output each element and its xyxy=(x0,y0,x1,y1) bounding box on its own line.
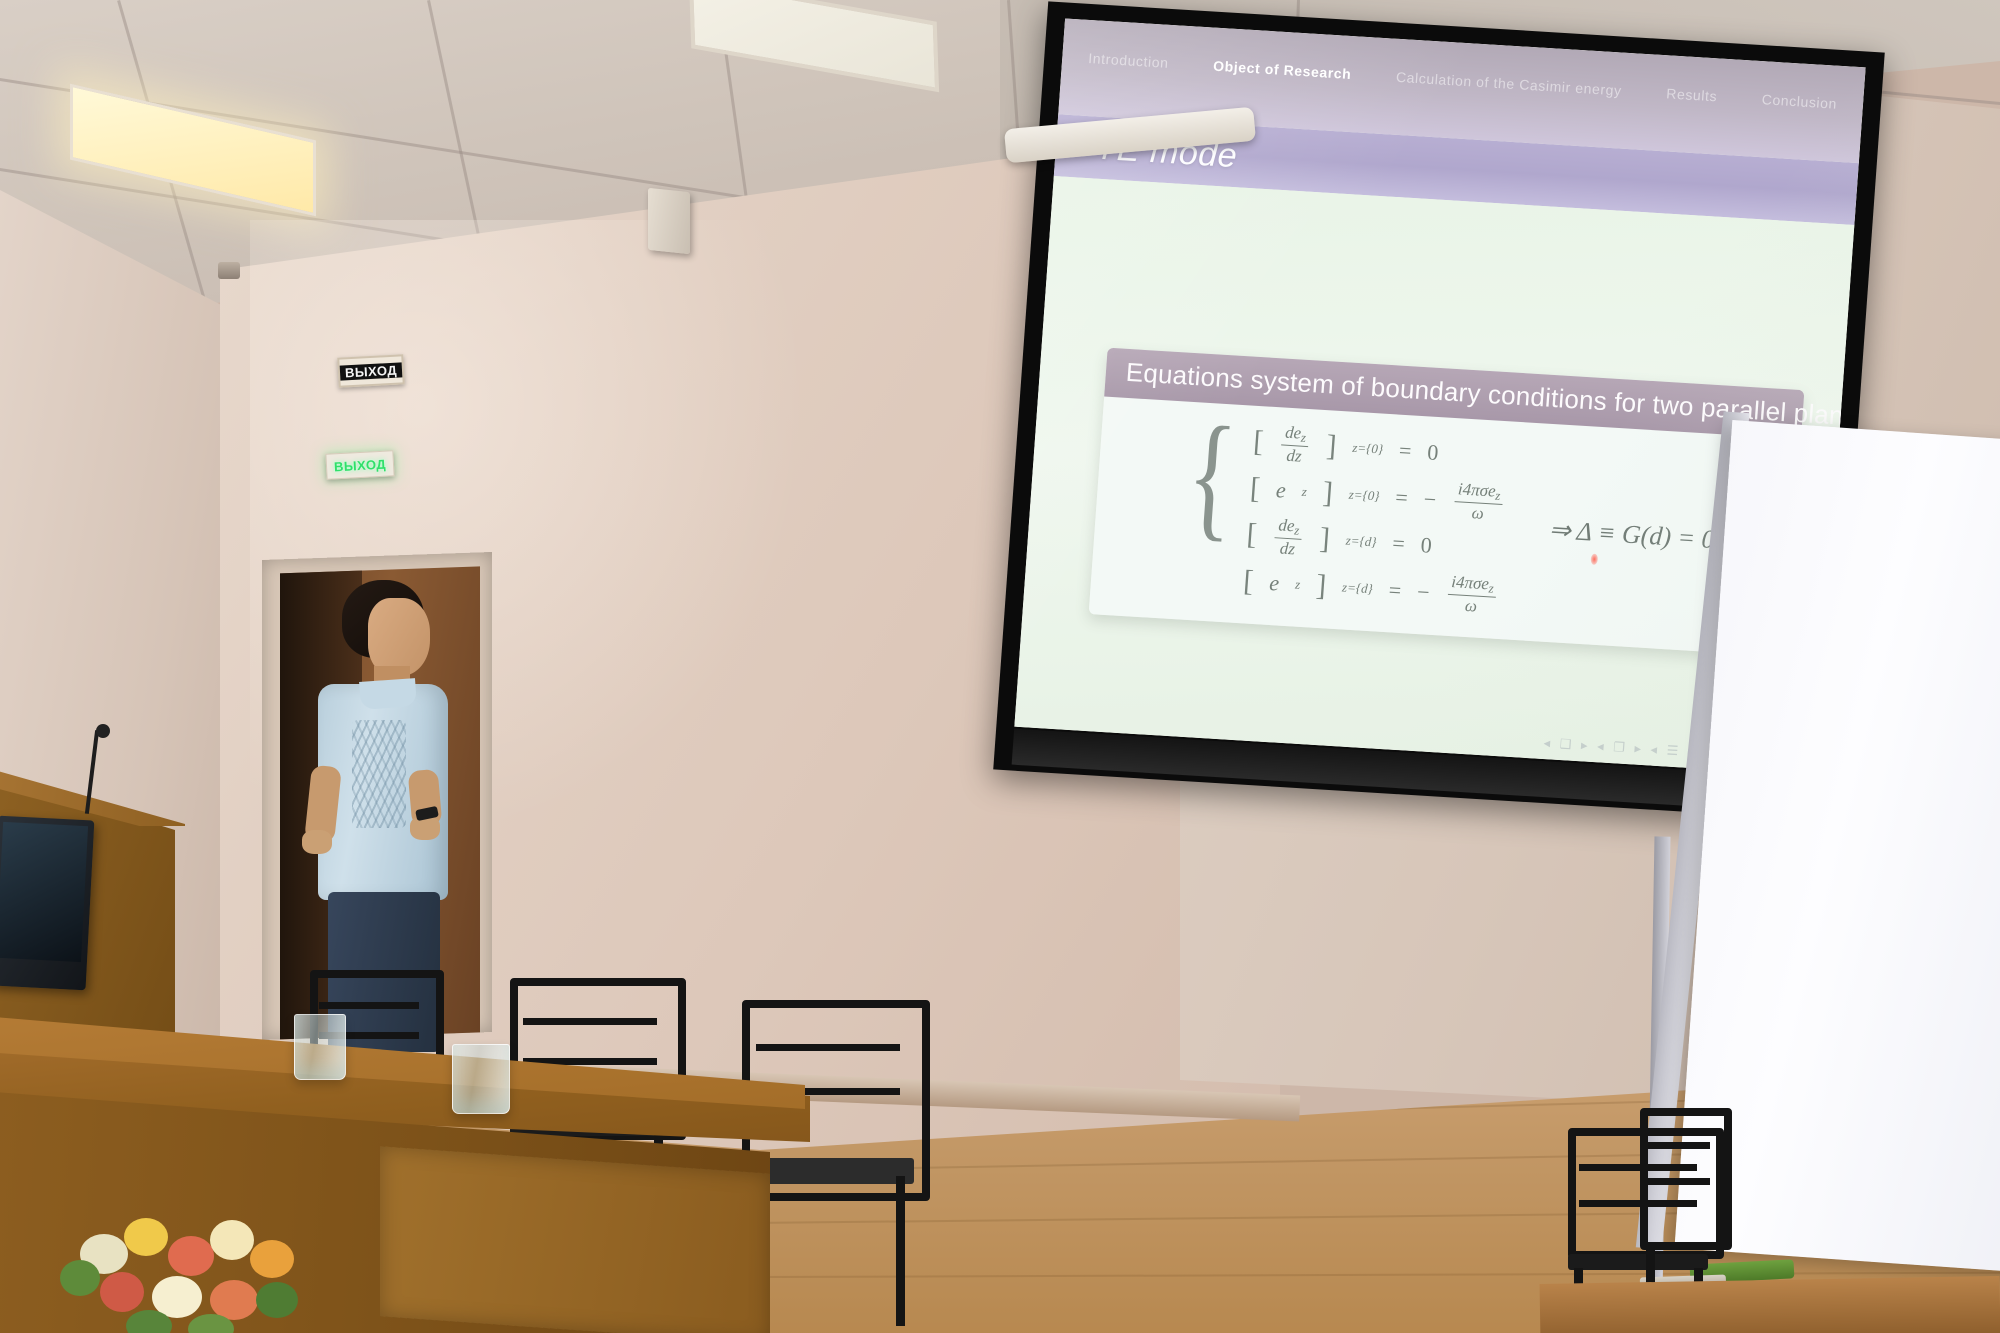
presenter-collar xyxy=(359,678,417,710)
water-glass[interactable] xyxy=(294,1014,346,1080)
water-glass[interactable] xyxy=(452,1044,510,1114)
presenter-hand-right xyxy=(410,816,440,840)
flower-bouquet xyxy=(60,1210,360,1333)
derivative-fraction: dez dz xyxy=(1280,423,1310,465)
bracket-open-icon: [ xyxy=(1249,471,1261,506)
eq2-relation: = xyxy=(1394,484,1408,511)
presenter-shirt-embroidery xyxy=(352,720,406,828)
bracket-close-icon: ] xyxy=(1322,476,1334,511)
bracket-close-icon: ] xyxy=(1315,569,1327,604)
slide-nav-conclusion[interactable]: Conclusion xyxy=(1761,91,1837,112)
bracket-open-icon: [ xyxy=(1242,564,1254,599)
eq4-relation: = xyxy=(1388,577,1402,604)
conference-table-panel xyxy=(380,1146,770,1333)
slide-nav-object-of-research[interactable]: Object of Research xyxy=(1213,58,1352,82)
eq1-rhs: 0 xyxy=(1426,440,1439,467)
eq3-numerator: de xyxy=(1278,515,1295,535)
eq1-denominator: dz xyxy=(1283,445,1305,465)
monitor-screen xyxy=(0,822,88,962)
eq4-sign: − xyxy=(1416,579,1430,606)
equation-system: { [ dez dz ] xyxy=(1169,417,1510,617)
motion-sensor-icon xyxy=(218,262,240,279)
chair-slat xyxy=(1646,1178,1710,1185)
side-table xyxy=(1540,1276,2000,1333)
equation-row: [ dez dz ] z={0} = 0 xyxy=(1252,422,1510,478)
exit-sign-primary: ВЫХОД xyxy=(337,354,404,387)
bracket-open-icon: [ xyxy=(1246,518,1258,553)
eq1-eval-at: z={0} xyxy=(1352,440,1384,458)
eq4-fraction: i4πσez ω xyxy=(1446,573,1498,616)
eq4-eval-at: z={d} xyxy=(1342,579,1374,597)
eq4-rhs-den: ω xyxy=(1461,596,1480,616)
bracket-open-icon: [ xyxy=(1252,425,1264,460)
conference-room-photo: ВЫХОД ВЫХОД Introduction Object of Res xyxy=(0,0,2000,1333)
presenter-face xyxy=(368,598,430,676)
system-brace-icon: { xyxy=(1179,418,1239,600)
eq2-sign: − xyxy=(1423,486,1437,513)
slide-nav-results[interactable]: Results xyxy=(1666,85,1718,104)
eq2-rhs-num-sub: z xyxy=(1495,488,1501,503)
bracket-close-icon: ] xyxy=(1319,522,1331,557)
eq3-denominator: dz xyxy=(1276,538,1298,558)
bracket-close-icon: ] xyxy=(1325,429,1337,464)
equation-row: [ ez ] z={d} = − i4πσez ω xyxy=(1242,561,1500,617)
eq2-field: e xyxy=(1275,477,1287,504)
chair-slat xyxy=(1646,1142,1710,1149)
exit-sign-secondary-label: ВЫХОД xyxy=(334,457,387,473)
eq2-field-sub: z xyxy=(1301,484,1307,500)
presenter-hand-left xyxy=(302,830,332,854)
computer-monitor[interactable] xyxy=(0,816,94,991)
equation-lines: [ dez dz ] z={0} = 0 xyxy=(1242,422,1510,617)
chair-slat xyxy=(756,1044,900,1051)
exit-sign-secondary: ВЫХОД xyxy=(325,450,394,480)
eq2-eval-at: z={0} xyxy=(1348,486,1380,504)
eq2-fraction: i4πσez ω xyxy=(1453,481,1505,524)
eq1-relation: = xyxy=(1398,438,1412,465)
eq1-numerator: de xyxy=(1285,423,1302,443)
equation-row: [ dez dz ] z={d} = 0 xyxy=(1245,515,1503,571)
eq4-field: e xyxy=(1268,570,1280,597)
eq2-rhs-num: i4πσe xyxy=(1457,480,1496,501)
chair-slat xyxy=(523,1018,657,1025)
eq3-num-sub: z xyxy=(1294,522,1300,537)
wall-speaker-icon xyxy=(648,188,690,254)
eq3-rhs: 0 xyxy=(1420,532,1433,559)
microphone-head-icon xyxy=(96,724,110,738)
eq4-rhs-num: i4πσe xyxy=(1451,573,1490,594)
exit-sign-primary-label: ВЫХОД xyxy=(340,362,403,380)
eq4-field-sub: z xyxy=(1295,576,1301,592)
slide-nav-introduction[interactable]: Introduction xyxy=(1088,50,1169,71)
eq3-eval-at: z={d} xyxy=(1345,533,1377,551)
eq1-num-sub: z xyxy=(1300,430,1306,445)
chair-leg xyxy=(896,1176,905,1326)
laser-pointer-dot-icon xyxy=(1591,554,1599,565)
slide-nav-calculation-of-casimir-energy[interactable]: Calculation of the Casimir energy xyxy=(1396,69,1623,99)
derivative-fraction: dez dz xyxy=(1273,516,1303,558)
chair-slat xyxy=(319,1002,418,1009)
eq2-rhs-den: ω xyxy=(1468,503,1487,523)
eq3-relation: = xyxy=(1391,531,1405,558)
eq4-rhs-num-sub: z xyxy=(1488,581,1494,596)
